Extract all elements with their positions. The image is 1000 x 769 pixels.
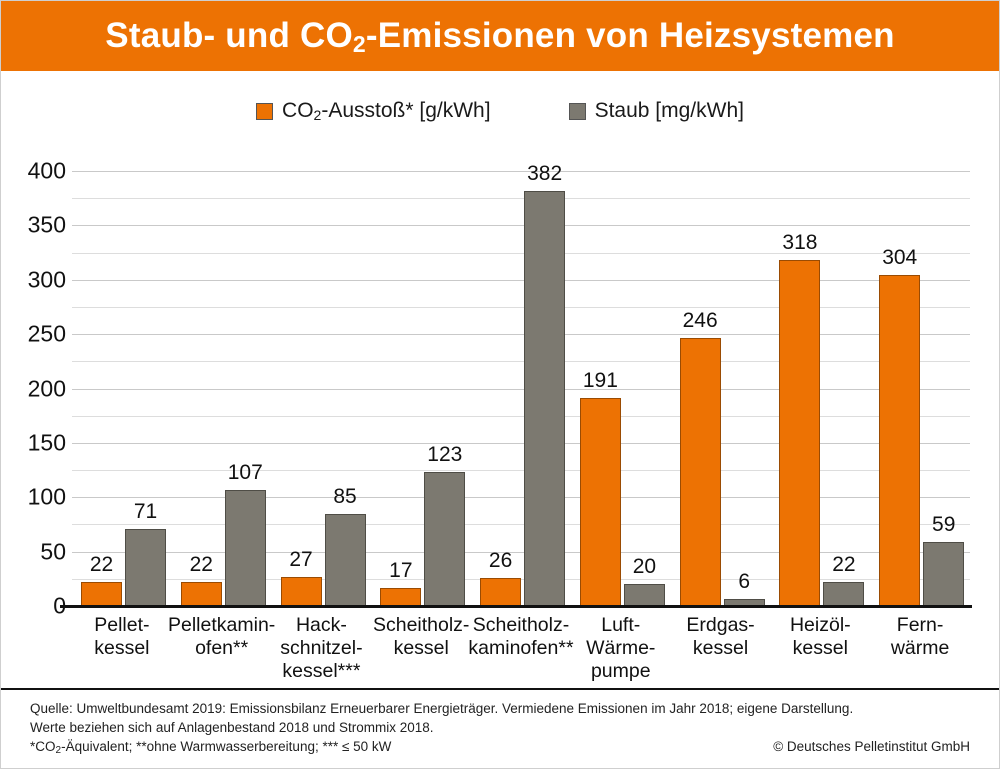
x-axis-label-line: kessel <box>365 637 477 660</box>
x-axis-label-line: wärme <box>864 637 976 660</box>
x-axis-label-line: kessel <box>665 637 777 660</box>
bar-co2[interactable]: 26 <box>480 578 521 606</box>
bar-dust[interactable]: 382 <box>524 191 565 606</box>
bar-value-label: 20 <box>633 555 656 579</box>
bar-value-label: 191 <box>583 369 618 393</box>
bar-value-label: 26 <box>489 549 512 573</box>
x-axis-label-line: Wärme- <box>565 637 677 660</box>
x-axis-label-8: Heizöl-kessel <box>764 614 876 660</box>
footer-notes-sub: 2 <box>56 745 62 756</box>
x-axis-label-2: Pelletkamin-ofen** <box>166 614 278 660</box>
x-axis-label-3: Hack-schnitzel-kessel*** <box>266 614 378 683</box>
x-axis-label-line: ofen** <box>166 637 278 660</box>
x-axis-line <box>60 605 972 608</box>
plot-wrapper: 2271221072785171232638219120246631822304… <box>0 0 1000 769</box>
bar-value-label: 17 <box>389 559 412 583</box>
x-axis-label-line: Heizöl- <box>764 614 876 637</box>
bar-co2[interactable]: 318 <box>779 260 820 606</box>
bar-dust[interactable]: 22 <box>823 582 864 606</box>
bar-value-label: 22 <box>190 553 213 577</box>
y-axis-tick-300: 300 <box>8 266 66 293</box>
footer-source-line1: Quelle: Umweltbundesamt 2019: Emissionsb… <box>30 699 970 718</box>
bar-value-label: 318 <box>782 231 817 255</box>
bar-group: 22107 <box>172 171 272 606</box>
bar-value-label: 59 <box>932 513 955 537</box>
bar-value-label: 27 <box>289 548 312 572</box>
y-axis-tick-200: 200 <box>8 375 66 402</box>
bar-co2[interactable]: 17 <box>380 588 421 606</box>
footer-notes-line: *CO2-Äquivalent; **ohne Warmwasserbereit… <box>30 737 391 758</box>
bar-group: 26382 <box>471 171 571 606</box>
bar-co2[interactable]: 27 <box>281 577 322 606</box>
x-axis-label-9: Fern-wärme <box>864 614 976 660</box>
bar-value-label: 22 <box>90 553 113 577</box>
bar-value-label: 246 <box>683 309 718 333</box>
y-axis-tick-150: 150 <box>8 429 66 456</box>
x-axis-label-line: Scheitholz- <box>465 614 577 637</box>
x-axis-label-line: Pelletkamin- <box>166 614 278 637</box>
footer: Quelle: Umweltbundesamt 2019: Emissionsb… <box>0 688 1000 769</box>
bar-value-label: 123 <box>427 443 462 467</box>
bar-group: 2785 <box>272 171 372 606</box>
x-axis-label-6: Luft-Wärme-pumpe <box>565 614 677 683</box>
bar-co2[interactable]: 22 <box>81 582 122 606</box>
bar-value-label: 304 <box>882 246 917 270</box>
bar-co2[interactable]: 22 <box>181 582 222 606</box>
bar-value-label: 107 <box>228 461 263 485</box>
plot-area: 2271221072785171232638219120246631822304… <box>72 171 970 606</box>
x-axis-label-line: kessel*** <box>266 660 378 683</box>
bar-co2[interactable]: 246 <box>680 338 721 606</box>
x-axis-label-line: Pellet- <box>66 614 178 637</box>
chart-page: Staub- und CO2-Emissionen von Heizsystem… <box>0 0 1000 769</box>
bar-dust[interactable]: 107 <box>225 490 266 606</box>
y-axis-tick-50: 50 <box>8 538 66 565</box>
x-axis-label-line: kessel <box>764 637 876 660</box>
x-axis-label-line: Erdgas- <box>665 614 777 637</box>
bar-value-label: 6 <box>738 570 750 594</box>
bar-dust[interactable]: 71 <box>125 529 166 606</box>
x-axis-label-5: Scheitholz-kaminofen** <box>465 614 577 660</box>
bar-co2[interactable]: 191 <box>580 398 621 606</box>
x-axis-label-line: kessel <box>66 637 178 660</box>
bar-dust[interactable]: 20 <box>624 584 665 606</box>
x-axis-label-line: Luft- <box>565 614 677 637</box>
x-axis-label-line: pumpe <box>565 660 677 683</box>
y-axis-tick-350: 350 <box>8 212 66 239</box>
footer-notes-post: -Äquivalent; **ohne Warmwasserbereitung;… <box>61 739 391 754</box>
x-axis-label-line: Hack- <box>266 614 378 637</box>
y-axis-tick-100: 100 <box>8 484 66 511</box>
bar-group: 19120 <box>571 171 671 606</box>
bar-value-label: 85 <box>333 485 356 509</box>
x-axis-label-7: Erdgas-kessel <box>665 614 777 660</box>
bar-group: 17123 <box>371 171 471 606</box>
x-axis-label-line: Scheitholz- <box>365 614 477 637</box>
bar-dust[interactable]: 123 <box>424 472 465 606</box>
bar-dust[interactable]: 85 <box>325 514 366 606</box>
y-axis-tick-250: 250 <box>8 321 66 348</box>
footer-notes-pre: *CO <box>30 739 56 754</box>
bar-group: 31822 <box>770 171 870 606</box>
x-axis-label-line: schnitzel- <box>266 637 378 660</box>
footer-copyright: © Deutsches Pelletinstitut GmbH <box>773 737 970 756</box>
bar-co2[interactable]: 304 <box>879 275 920 606</box>
bar-value-label: 71 <box>134 500 157 524</box>
bar-group: 2466 <box>671 171 771 606</box>
x-axis-label-4: Scheitholz-kessel <box>365 614 477 660</box>
bar-group: 30459 <box>870 171 970 606</box>
x-axis-label-line: kaminofen** <box>465 637 577 660</box>
y-axis-tick-labels: 400350300250200150100500 <box>0 0 66 769</box>
footer-source-line2: Werte beziehen sich auf Anlagenbestand 2… <box>30 718 970 737</box>
bar-group: 2271 <box>72 171 172 606</box>
bar-value-label: 382 <box>527 162 562 186</box>
x-axis-label-line: Fern- <box>864 614 976 637</box>
x-axis-label-1: Pellet-kessel <box>66 614 178 660</box>
bar-value-label: 22 <box>832 553 855 577</box>
y-axis-tick-400: 400 <box>8 158 66 185</box>
y-axis-tick-0: 0 <box>8 593 66 620</box>
bar-dust[interactable]: 59 <box>923 542 964 606</box>
